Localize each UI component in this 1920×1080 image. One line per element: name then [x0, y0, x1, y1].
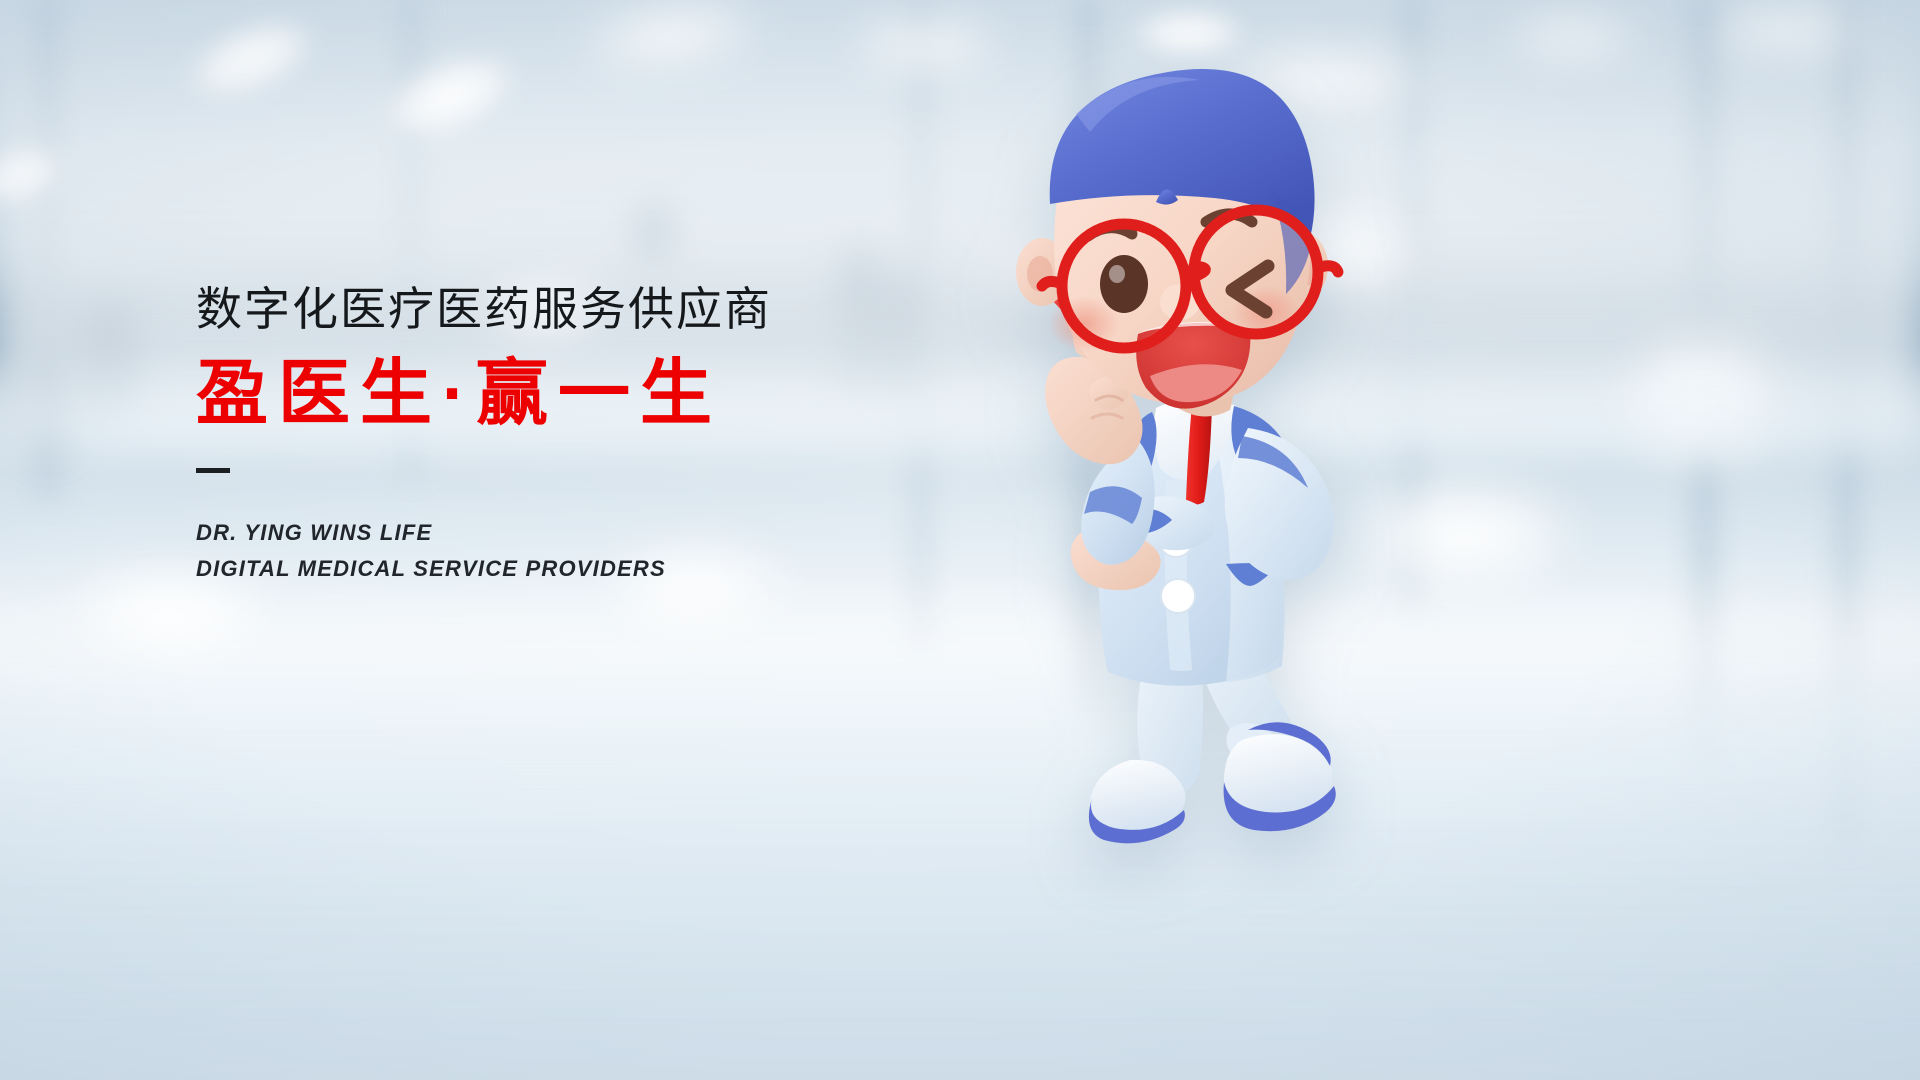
english-tagline-line-1: DR. YING WINS LIFE: [196, 515, 772, 551]
headline-subtitle: 数字化医疗医药服务供应商: [196, 284, 772, 335]
headline-group: 数字化医疗医药服务供应商 盈医生·赢一生 DR. YING WINS LIFE …: [196, 284, 772, 586]
english-tagline: DR. YING WINS LIFE DIGITAL MEDICAL SERVI…: [196, 515, 772, 586]
doctor-mascot: [980, 40, 1440, 870]
page-title: 盈医生·赢一生: [196, 357, 772, 433]
mascot-shoes: [1089, 722, 1336, 843]
hero-banner: 数字化医疗医药服务供应商 盈医生·赢一生 DR. YING WINS LIFE …: [0, 0, 1920, 1080]
english-tagline-line-2: DIGITAL MEDICAL SERVICE PROVIDERS: [196, 551, 772, 587]
mascot-head: [1016, 69, 1338, 409]
divider: [196, 468, 230, 473]
